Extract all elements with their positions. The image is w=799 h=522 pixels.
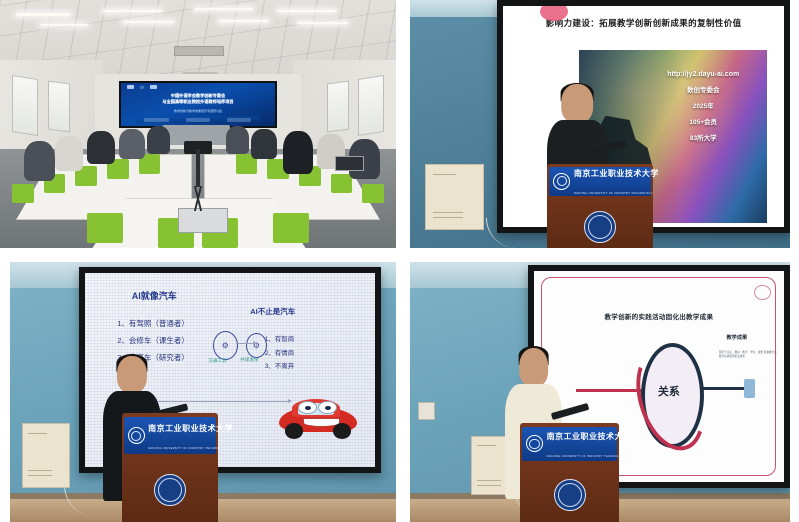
slide-text-stack: http://jy2.dayu-ai.com 数创专委会 2025年 105+会… (645, 71, 762, 142)
slide-list-item-right: 3、不离弃 (265, 360, 295, 370)
screen-footer-strip (136, 116, 260, 123)
podium-emblem-icon (584, 211, 616, 243)
screen-title-line-2: 与全国高等职业院校外语教师培养项目 (129, 99, 268, 106)
slide-list-item-right: 2、有情商 (265, 347, 295, 357)
wall-panel (22, 423, 70, 487)
meeting-display-screen: 会议 中国外语学会教学创新专委会 与全国高等职业院校外语教师培养项目 教学创新与… (119, 81, 277, 128)
meeting-participant (87, 131, 115, 163)
podium-sign-text: 南京工业职业技术大学 NANJING UNIVERSITY OF INDUSTR… (574, 163, 647, 199)
podium-emblem-icon (554, 479, 586, 511)
car-wheel (333, 423, 351, 438)
lecture-hall-scene: AI就像汽车 AI不止是汽车 1、有驾照（普通者） 2、会修车（课生者） 3、造… (10, 262, 396, 522)
logo-mark-icon (127, 85, 134, 89)
university-crest-icon (526, 435, 543, 452)
screen-subtitle: 教学创新与教学成果培育专题研讨会 (133, 109, 263, 113)
panel-text-line (28, 433, 47, 437)
photo-bottom-left[interactable]: AI就像汽车 AI不止是汽车 1、有驾照（普通者） 2、会修车（课生者） 3、造… (10, 262, 396, 522)
screen-header-label: 会议 (140, 85, 144, 89)
photo-grid: 会议 中国外语学会教学创新专委会 与全国高等职业院校外语教师培养项目 教学创新与… (0, 0, 799, 522)
slide-caption-left: 交通工具 (208, 358, 226, 364)
chair (331, 174, 353, 194)
slide-list-item-right: 1、有智商 (265, 333, 295, 343)
diagram-center-label: 关系 (641, 343, 696, 440)
panel-text-line (433, 212, 463, 220)
connector-arrow-icon (158, 401, 291, 402)
panel-text-line (477, 480, 501, 487)
key-icon (744, 379, 755, 398)
wall-panel (425, 164, 484, 230)
laptop (178, 208, 228, 232)
panel-text-line (433, 174, 456, 178)
logo-mark-icon (150, 85, 157, 89)
university-name-en: NANJING UNIVERSITY OF INDUSTRY TECHNOLOG… (574, 192, 653, 195)
photo-top-right[interactable]: 影响力建设：拓展教学创新创新成果的复制性价值 http://jy2.dayu-a… (410, 0, 790, 248)
screen-card (227, 118, 252, 122)
chair (12, 184, 34, 204)
meeting-room-scene: 会议 中国外语学会教学创新专委会 与全国高等职业院校外语教师培养项目 教学创新与… (0, 0, 396, 248)
photo-bottom-right[interactable]: 教学创新的实践活动固化出教学成果 关系 教学成果 国字号认证、教材、教学、学生、… (410, 262, 790, 522)
meeting-participant (147, 126, 171, 153)
panel-text-line (477, 445, 495, 448)
photo-top-left[interactable]: 会议 中国外语学会教学创新专委会 与全国高等职业院校外语教师培养项目 教学创新与… (0, 0, 396, 248)
podium-sign: 南京工业职业技术大学 NANJING UNIVERSITY OF INDUSTR… (124, 417, 217, 454)
head (561, 84, 593, 123)
university-name-cn: 南京工业职业技术大学 (148, 424, 233, 433)
slide-caption-right: 共谋发保 (240, 357, 258, 363)
connector-arrow-icon (236, 343, 256, 344)
head (117, 356, 147, 394)
slide-line: 数创专委会 (687, 84, 720, 94)
robot-icon: ⚙ (246, 333, 267, 358)
diagram-right-detail: 国字号认证、教材、教学、学生、成果 各类教学实践活动成果固化及成果 (719, 351, 779, 359)
chair (273, 213, 309, 243)
slide-list-item-left: 2、会修车（课生者） (117, 335, 189, 346)
meeting-participant (55, 136, 83, 171)
window (358, 75, 384, 136)
slide-list-item-left: 1、有驾照（普通者） (117, 318, 189, 329)
window (12, 75, 38, 136)
laptop (335, 156, 365, 170)
slide-line: 83所大学 (690, 132, 717, 142)
podium: 南京工业职业技术大学 NANJING UNIVERSITY OF INDUSTR… (547, 164, 653, 248)
podium-sign: 南京工业职业技术大学 NANJING UNIVERSITY OF INDUSTR… (549, 167, 651, 196)
window (327, 80, 349, 132)
diagram-left-stem (576, 389, 644, 392)
diagram-right-label: 教学成果 (726, 334, 747, 341)
screen-card (186, 118, 211, 122)
slide-url: http://jy2.dayu-ai.com (667, 71, 739, 78)
university-name-cn: 南京工业职业技术大学 (574, 169, 659, 178)
meeting-participant (119, 129, 145, 159)
university-crest-icon (128, 427, 145, 444)
tripod (188, 149, 208, 211)
slide-line: 2025年 (693, 100, 714, 110)
meeting-participant (24, 141, 56, 181)
screen-card (144, 118, 169, 122)
meeting-participant (283, 131, 313, 173)
podium: 南京工业职业技术大学 NANJING UNIVERSITY OF INDUSTR… (520, 423, 619, 522)
car-eye (298, 401, 317, 414)
podium: 南京工业职业技术大学 NANJING UNIVERSITY OF INDUSTR… (122, 413, 219, 522)
lecture-hall-scene: 影响力建设：拓展教学创新创新成果的复制性价值 http://jy2.dayu-a… (410, 0, 790, 248)
slide-heading-right: AI不止是汽车 (250, 306, 295, 317)
meeting-participant (251, 129, 277, 159)
screen-header: 会议 (127, 85, 269, 90)
car-wheel (285, 423, 303, 438)
ceiling-vent (174, 46, 224, 56)
university-name-en: NANJING UNIVERSITY OF INDUSTRY TECHNOLOG… (547, 455, 626, 458)
podium-sign-text: 南京工业职业技术大学 NANJING UNIVERSITY OF INDUSTR… (547, 426, 614, 462)
podium-emblem-icon (154, 474, 186, 506)
university-name-cn: 南京工业职业技术大学 (547, 432, 632, 441)
university-crest-icon (553, 173, 570, 190)
panel-text-line (28, 470, 52, 477)
screen-title: 中国外语学会教学创新专委会 与全国高等职业院校外语教师培养项目 (129, 93, 268, 106)
ceiling-lamp (15, 13, 72, 16)
chair (362, 184, 384, 204)
window (48, 80, 70, 132)
chair (87, 213, 123, 243)
wall-outlet (418, 402, 435, 420)
lecture-hall-scene: 教学创新的实践活动固化出教学成果 关系 教学成果 国字号认证、教材、教学、学生、… (410, 262, 790, 522)
meeting-participant (226, 126, 250, 153)
slide-title: 教学创新的实践活动固化出教学成果 (564, 311, 754, 321)
cartoon-car-illustration (279, 397, 357, 440)
wrench-gear-icon: ⚙ (213, 331, 238, 360)
slide-line: 105+会员 (689, 116, 717, 126)
podium-sign: 南京工业职业技术大学 NANJING UNIVERSITY OF INDUSTR… (522, 427, 617, 461)
podium-sign-text: 南京工业职业技术大学 NANJING UNIVERSITY OF INDUSTR… (148, 418, 213, 454)
university-name-en: NANJING UNIVERSITY OF INDUSTRY TECHNOLOG… (148, 447, 227, 450)
slide-heading-left: AI就像汽车 (132, 289, 177, 302)
head (519, 348, 549, 387)
